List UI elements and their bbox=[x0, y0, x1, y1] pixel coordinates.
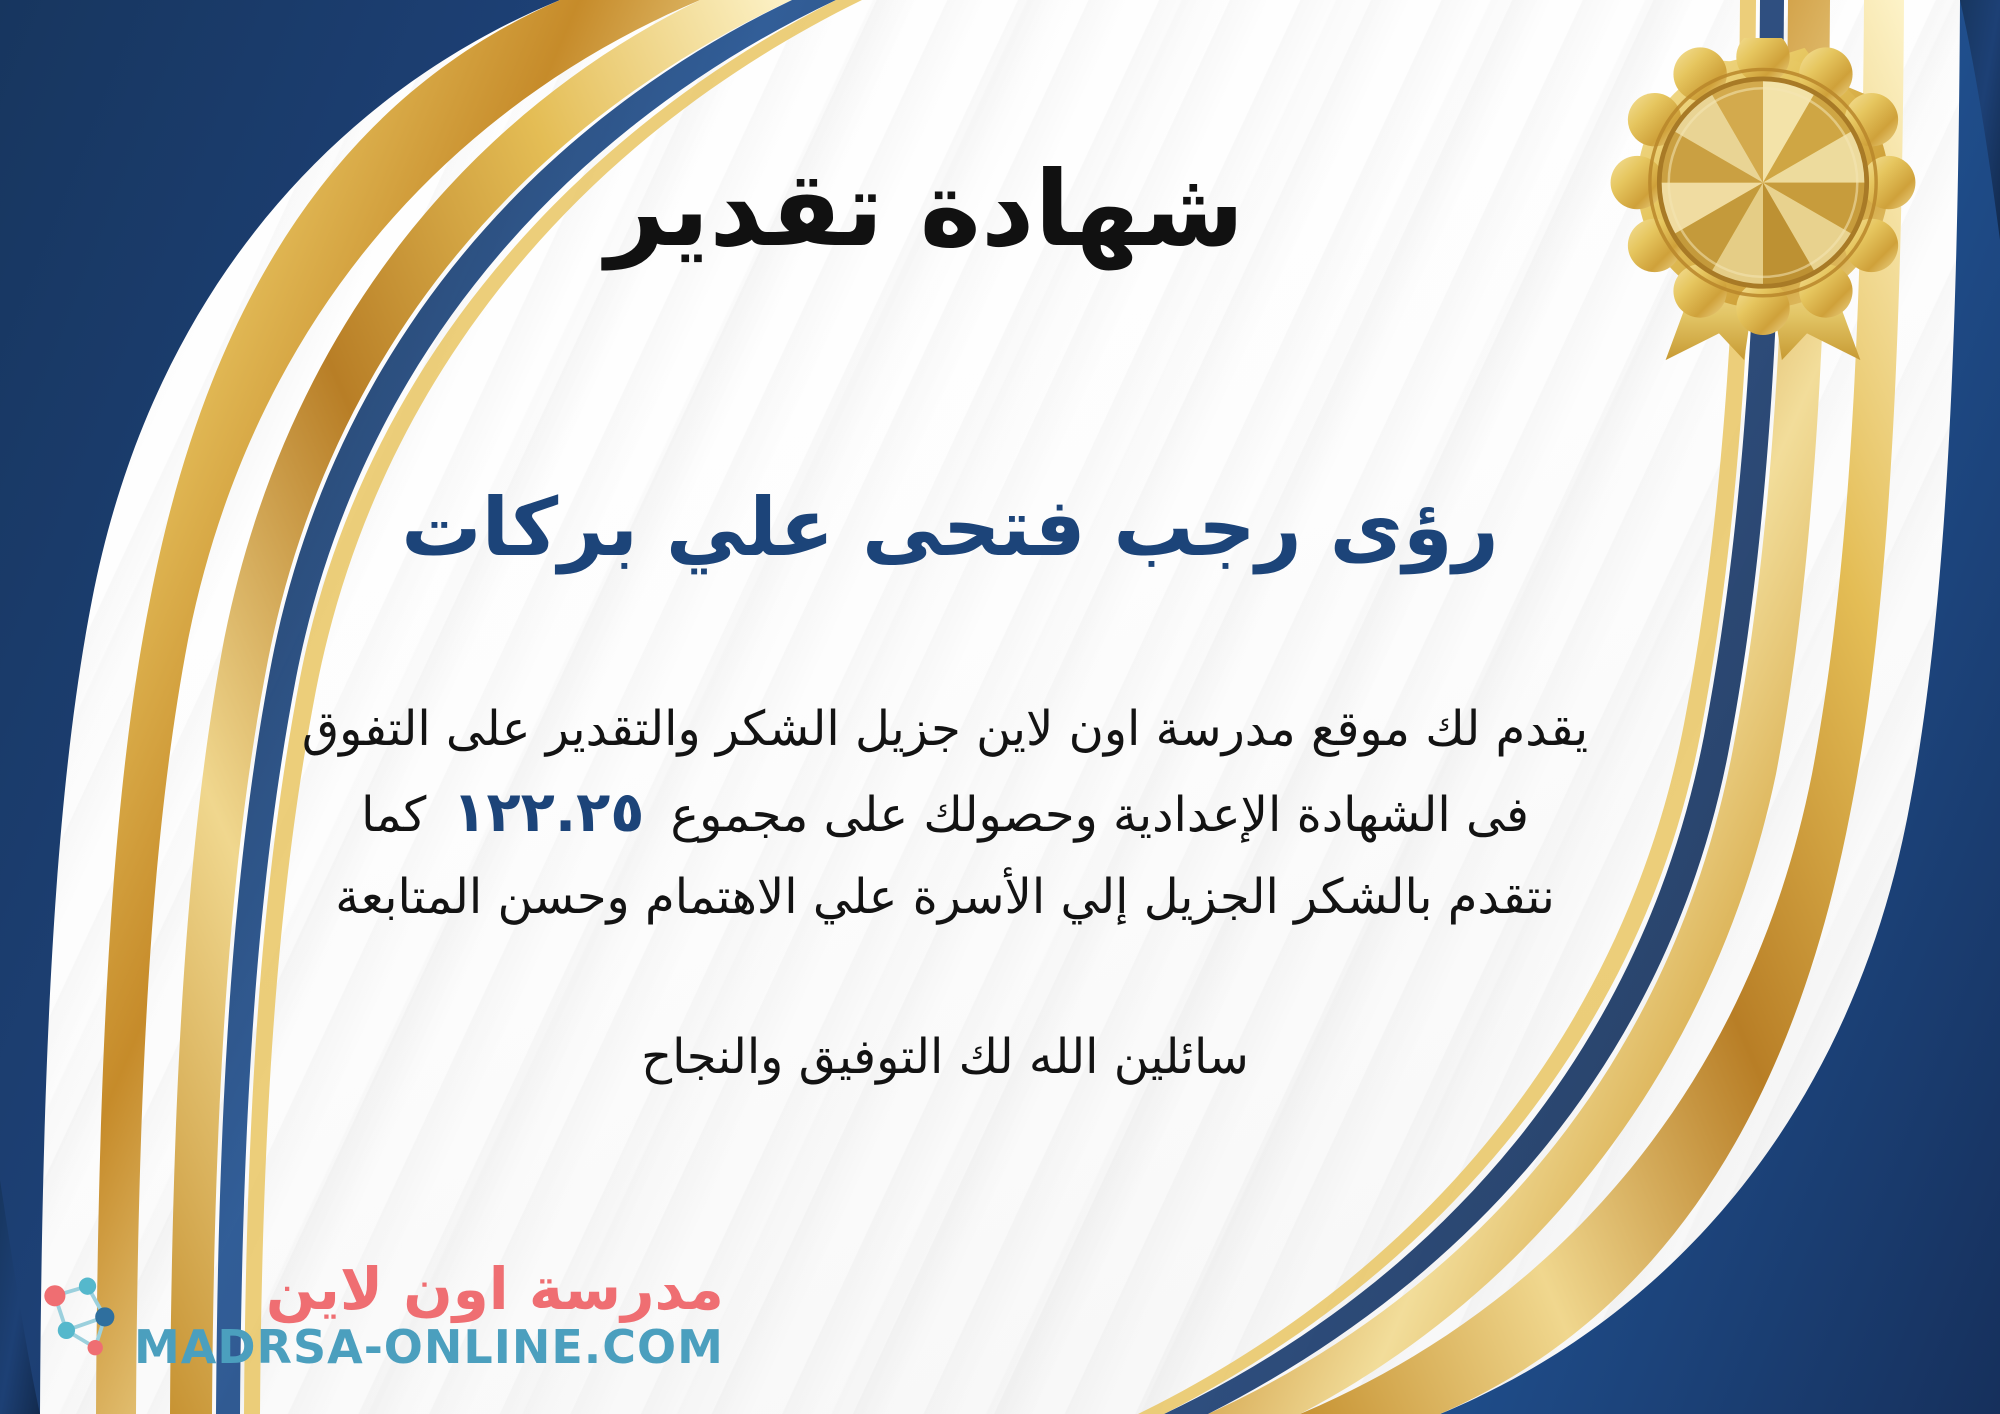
closing-wish-text: سائلين الله لك التوفيق والنجاح bbox=[641, 1029, 1249, 1085]
body-line-1: يقدم لك موقع مدرسة اون لاين جزيل الشكر و… bbox=[135, 691, 1755, 769]
network-nodes-logo-icon bbox=[28, 1267, 124, 1363]
certificate-canvas: شهادة تقدير رؤى رجب فتحى علي بركات يقدم … bbox=[0, 0, 2000, 1414]
brand-arabic-name: مدرسة اون لاين bbox=[266, 1260, 724, 1318]
recipient-name: رؤى رجب فتحى علي بركات bbox=[401, 480, 1499, 576]
body-line-2-prefix: فى الشهادة الإعدادية وحصولك على مجموع bbox=[670, 787, 1528, 843]
certificate-body: يقدم لك موقع مدرسة اون لاين جزيل الشكر و… bbox=[135, 691, 1755, 937]
brand-text-block: مدرسة اون لاين MADRSA-ONLINE.COM bbox=[134, 1260, 724, 1370]
brand-logo[interactable]: مدرسة اون لاين MADRSA-ONLINE.COM bbox=[28, 1260, 724, 1370]
body-line-3: نتقدم بالشكر الجزيل إلي الأسرة علي الاهت… bbox=[135, 859, 1755, 937]
gold-award-medal-icon bbox=[1598, 38, 1928, 368]
page-title: شهادة تقدير bbox=[606, 150, 1245, 270]
body-line-2: فى الشهادة الإعدادية وحصولك على مجموع١٢٢… bbox=[135, 768, 1755, 859]
total-score-value: ١٢٢.٢٥ bbox=[426, 780, 670, 845]
body-line-2-suffix: كما bbox=[361, 787, 426, 843]
brand-website-url: MADRSA-ONLINE.COM bbox=[134, 1324, 724, 1370]
